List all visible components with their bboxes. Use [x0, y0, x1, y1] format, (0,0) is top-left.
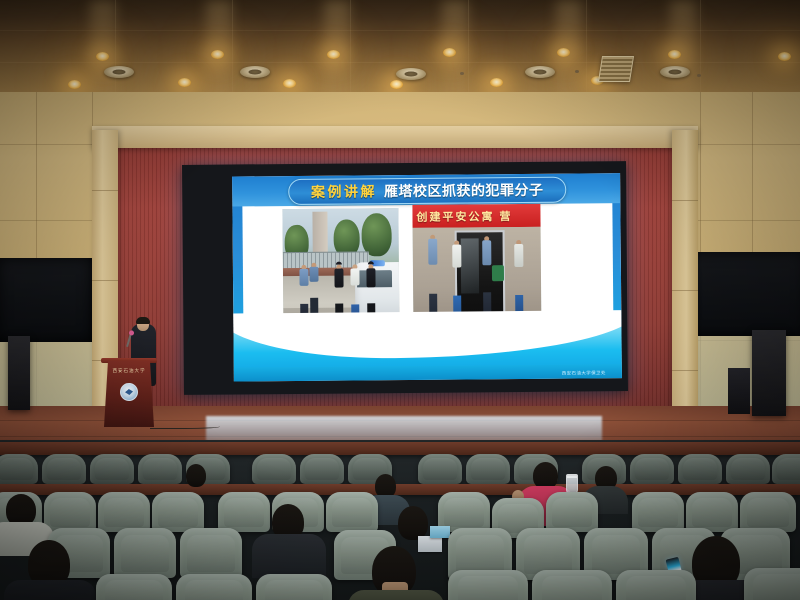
- ceiling-downlight: [327, 50, 340, 59]
- seat: [218, 492, 270, 532]
- auditorium-photo: 案例讲解 雁塔校区抓获的犯罪分子: [0, 0, 800, 600]
- ceiling: [0, 0, 800, 96]
- seat: [90, 454, 134, 484]
- handout-paper: [418, 536, 442, 552]
- ceiling-downlight: [283, 79, 296, 88]
- red-banner: 创建平安公寓 营: [412, 204, 541, 229]
- banner-text: 创建平安公寓: [416, 208, 494, 225]
- ceiling-downlight: [668, 50, 681, 59]
- ceiling-downlight: [178, 78, 191, 87]
- ceiling-downlight: [390, 80, 403, 89]
- ceiling-speaker-icon: [104, 66, 134, 78]
- seat: [740, 492, 796, 532]
- side-display-right: [686, 252, 800, 336]
- floor-cable: [150, 424, 220, 429]
- slide-title-highlight: 案例讲解: [311, 181, 377, 202]
- seat: [180, 528, 242, 578]
- suspect-figure: [449, 240, 466, 320]
- ceiling-vent: [598, 56, 634, 82]
- seat: [252, 454, 296, 484]
- ceiling-downlight: [778, 52, 791, 61]
- ceiling-speaker-icon: [240, 66, 270, 78]
- officer-figure: [424, 235, 441, 323]
- seat: [772, 454, 800, 484]
- ceiling-downlight: [211, 50, 224, 59]
- background-tower: [313, 211, 328, 257]
- ceiling-downlight: [96, 52, 109, 61]
- podium-institution-text: 西安石油大学: [104, 368, 154, 374]
- seat: [448, 570, 528, 600]
- seat: [0, 454, 38, 484]
- audience-shoulders: [252, 534, 326, 578]
- ceiling-speaker-icon: [396, 68, 426, 80]
- floor-speaker-right: [752, 330, 786, 416]
- seat: [256, 574, 332, 600]
- audience-head: [533, 462, 558, 489]
- light-shaft: [324, 0, 350, 96]
- seat: [96, 574, 172, 600]
- seat: [744, 568, 800, 600]
- seat: [686, 492, 738, 532]
- audience-shoulders: [4, 580, 96, 600]
- seat: [632, 492, 684, 532]
- slide-footer-text: 西安石油大学保卫处: [562, 370, 606, 376]
- seat: [546, 492, 598, 532]
- floor-speaker-left: [8, 336, 30, 410]
- presenter-hair: [136, 317, 150, 324]
- seat: [616, 570, 696, 600]
- ceiling-downlight: [490, 78, 503, 87]
- audience-head: [398, 506, 428, 540]
- ceiling-downlight: [443, 48, 456, 57]
- seat: [42, 454, 86, 484]
- seat: [44, 492, 96, 532]
- slide-footer-bar: 西安石油大学保卫处: [234, 364, 622, 381]
- light-shaft: [206, 0, 232, 96]
- officer-figure: [307, 262, 320, 316]
- side-display-left: [0, 258, 92, 342]
- banner-extra-text: 营: [499, 208, 512, 224]
- seat: [532, 570, 612, 600]
- projection-screen: 案例讲解 雁塔校区抓获的犯罪分子: [182, 161, 628, 395]
- stone-frame-right: [672, 130, 698, 430]
- stone-frame-top: [92, 126, 698, 148]
- seat: [176, 574, 252, 600]
- seat: [300, 454, 344, 484]
- handout-paper: [430, 526, 450, 538]
- ceiling-speaker-icon: [525, 66, 555, 78]
- audience-shoulders: [348, 590, 444, 600]
- lectern-podium: 西安石油大学: [104, 361, 154, 427]
- seat: [114, 528, 176, 578]
- seat: [418, 454, 462, 484]
- light-shaft: [90, 0, 116, 96]
- university-emblem: [120, 383, 138, 401]
- light-shaft: [670, 0, 696, 96]
- suspect-figure: [510, 240, 527, 320]
- ceiling-downlight: [68, 80, 81, 89]
- audience-head: [186, 464, 206, 487]
- seat: [630, 454, 674, 484]
- audience-seating-area: [0, 440, 800, 600]
- slide-title-main: 雁塔校区抓获的犯罪分子: [384, 180, 544, 201]
- seat: [98, 492, 150, 532]
- seat: [138, 454, 182, 484]
- presentation-slide: 案例讲解 雁塔校区抓获的犯罪分子: [232, 173, 622, 381]
- seat: [466, 454, 510, 484]
- seat: [726, 454, 770, 484]
- seat: [678, 454, 722, 484]
- floor-monitor-right: [728, 368, 750, 414]
- ceiling-downlight: [557, 48, 570, 57]
- officer-figure: [478, 236, 495, 322]
- seat: [326, 492, 378, 532]
- seat: [152, 492, 204, 532]
- ceiling-speaker-icon: [660, 66, 690, 78]
- slide-title-pill: 案例讲解 雁塔校区抓获的犯罪分子: [288, 177, 566, 205]
